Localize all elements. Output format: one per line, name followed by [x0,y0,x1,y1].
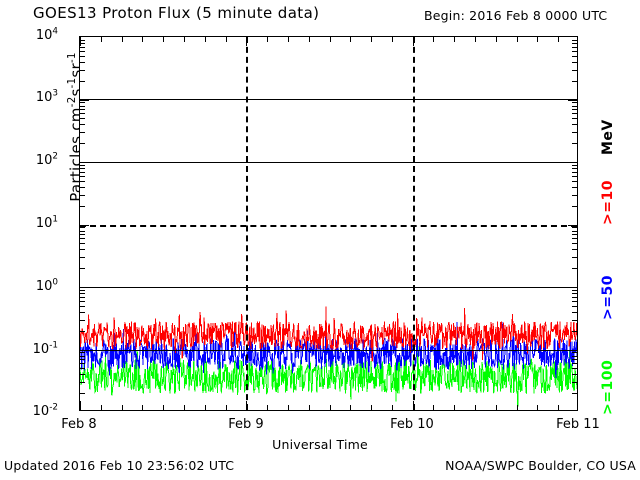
gridline-1e-1 [80,350,577,351]
plot-area [79,36,578,411]
x-tick-label: Feb 8 [44,417,114,432]
x-tick-label: Feb 9 [211,417,281,432]
y-tick-label: 101 [36,216,58,231]
gridline-1e3 [80,99,577,100]
gridline-1e2 [80,162,577,163]
legend-unit-mev: MeV [600,119,616,155]
begin-time-label: Begin: 2016 Feb 8 0000 UTC [424,8,607,23]
updated-timestamp: Updated 2016 Feb 10 23:56:02 UTC [4,458,234,473]
day-boundary-feb10 [413,37,415,410]
legend-item-ge10: >=10 [600,180,616,225]
legend-item-ge50: >=50 [600,275,616,320]
x-axis-title: Universal Time [0,437,640,452]
y-tick-label: 10-1 [33,342,58,357]
y-tick-label: 102 [36,153,58,168]
x-tick-label: Feb 11 [543,417,613,432]
source-attribution: NOAA/SWPC Boulder, CO USA [445,458,636,473]
gridline-1e0 [80,287,577,288]
gridline-1e1-dashed [80,225,577,227]
day-boundary-feb9 [246,37,248,410]
data-traces [80,37,578,411]
chart-page: GOES13 Proton Flux (5 minute data) Begin… [0,0,640,480]
y-tick-label: 100 [36,279,58,294]
y-tick-label: 103 [36,90,58,105]
y-tick-label: 104 [36,28,58,43]
legend-item-ge100: >=100 [600,360,616,415]
x-tick-label: Feb 10 [377,417,447,432]
